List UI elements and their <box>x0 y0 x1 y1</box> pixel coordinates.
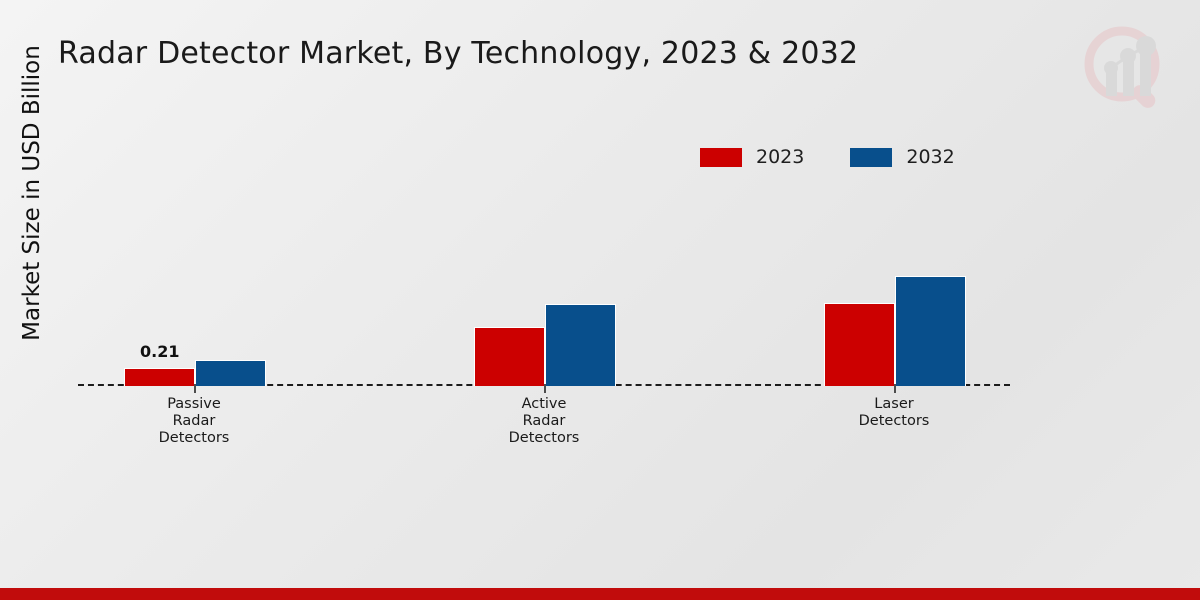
tick-mark-group2 <box>544 384 546 393</box>
chart-title: Radar Detector Market, By Technology, 20… <box>58 36 858 71</box>
bar-passive-2023[interactable] <box>124 368 195 386</box>
y-axis-title: Market Size in USD Billion <box>19 33 45 353</box>
bar-active-2023[interactable] <box>474 327 545 386</box>
watermark-logo-icon <box>1078 20 1174 116</box>
x-axis-label-laser-detectors: Laser Detectors <box>814 396 974 430</box>
x-axis-label-active-radar-detectors: Active Radar Detectors <box>464 396 624 447</box>
x-axis-label-line1: Passive <box>114 396 274 413</box>
bar-laser-2032[interactable] <box>895 276 966 386</box>
chart-container: Radar Detector Market, By Technology, 20… <box>0 0 1200 600</box>
x-axis-label-line3: Detectors <box>464 430 624 447</box>
bars-row-group3 <box>824 150 966 386</box>
bar-active-2032[interactable] <box>545 304 616 386</box>
x-axis-label-line1: Active <box>464 396 624 413</box>
bottom-accent-band <box>0 588 1200 600</box>
tick-mark-group1 <box>194 384 196 393</box>
x-axis-label-line2: Radar <box>114 413 274 430</box>
bars-row-group1 <box>124 150 266 386</box>
x-axis-label-passive-radar-detectors: Passive Radar Detectors <box>114 396 274 447</box>
x-axis-label-line2: Detectors <box>814 413 974 430</box>
bar-group-passive-radar-detectors: 0.21 <box>124 150 266 386</box>
x-axis-label-line3: Detectors <box>114 430 274 447</box>
bars-row-group2 <box>474 150 616 386</box>
x-axis-label-line1: Laser <box>814 396 974 413</box>
bar-laser-2023[interactable] <box>824 303 895 386</box>
tick-mark-group3 <box>894 384 896 393</box>
x-axis-label-line2: Radar <box>464 413 624 430</box>
bar-passive-2032[interactable] <box>195 360 266 386</box>
bar-group-laser-detectors <box>824 150 966 386</box>
plot-area: 0.21 <box>78 150 1010 386</box>
bar-group-active-radar-detectors <box>474 150 616 386</box>
